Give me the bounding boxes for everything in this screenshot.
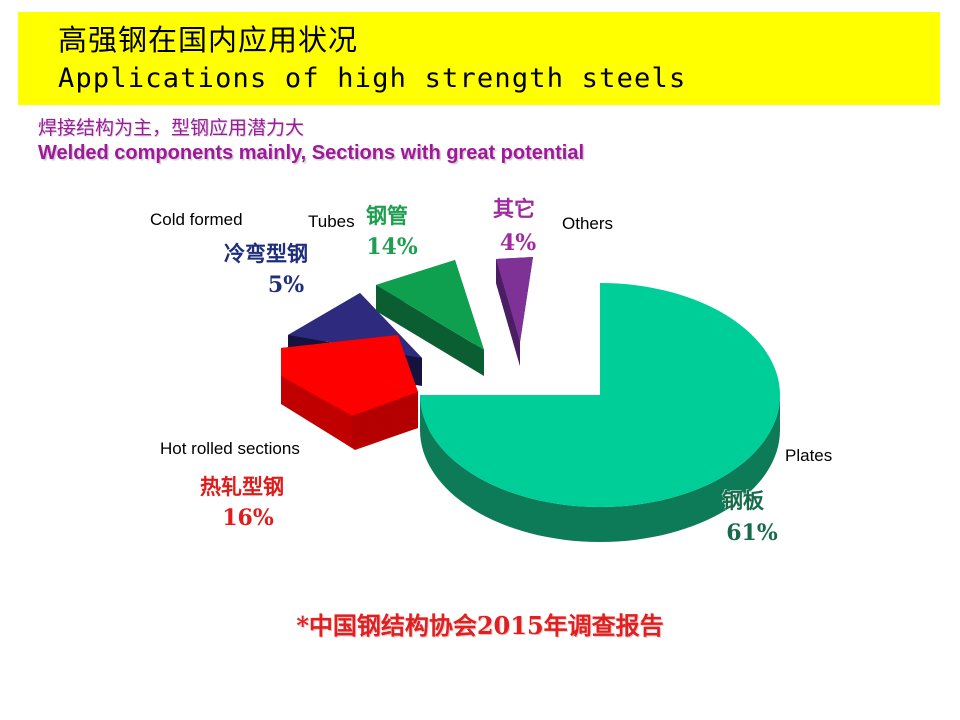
label-plates-cn: 钢板 [722,489,764,514]
label-hot-rolled-cn: 热轧型钢 [200,475,284,500]
subtitle-block: 焊接结构为主，型钢应用潜力大 Welded components mainly,… [38,116,898,166]
footnote: *中国钢结构协会2015年调查报告 [0,606,960,641]
pie-chart-svg [0,180,960,580]
page-title-cn: 高强钢在国内应用状况 [58,20,940,60]
label-tubes-en: Tubes [308,212,355,232]
label-tubes-pct: 14% [366,234,418,260]
label-hot-rolled-en: Hot rolled sections [160,439,300,459]
slide-canvas: 高强钢在国内应用状况 Applications of high strength… [0,0,960,720]
title-banner: 高强钢在国内应用状况 Applications of high strength… [18,12,940,105]
label-others-pct: 4% [498,230,538,256]
page-title-en: Applications of high strength steels [58,60,940,98]
label-others-en: Others [562,214,613,234]
label-plates-en: Plates [785,446,832,466]
label-plates-pct: 61% [722,520,782,546]
label-tubes-cn: 钢管 [366,204,408,229]
label-cold-formed-en: Cold formed [150,210,243,230]
subtitle-en: Welded components mainly, Sections with … [38,140,898,166]
pie-chart: Cold formed 冷弯型钢 5% Tubes 钢管 14% 其它 4% O… [0,180,960,580]
label-hot-rolled-pct: 16% [222,505,274,531]
label-cold-formed-pct: 5% [260,272,312,298]
subtitle-cn: 焊接结构为主，型钢应用潜力大 [38,116,898,140]
label-cold-formed-cn: 冷弯型钢 [224,242,308,267]
label-others-cn: 其它 [493,197,535,222]
